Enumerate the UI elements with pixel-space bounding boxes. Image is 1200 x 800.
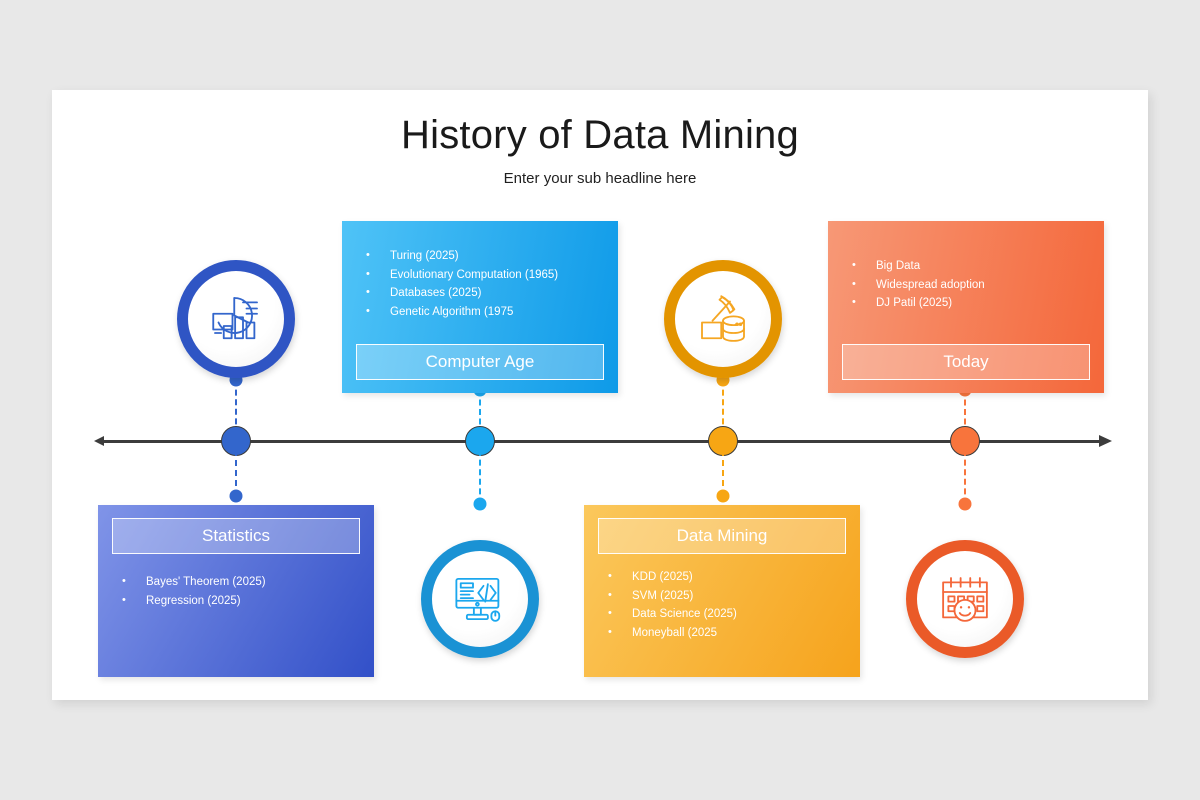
list-item: Bayes' Theorem (2025) [118,573,362,592]
list-item: Genetic Algorithm (1975 [362,303,606,322]
list-item: Widespread adoption [848,276,1092,295]
milestone-label-computer-age: Computer Age [356,344,604,380]
milestone-panel-computer-age[interactable]: Turing (2025) Evolutionary Computation (… [342,221,618,393]
connector-dot-data-mining-down [717,490,730,503]
timeline-axis [92,440,1112,444]
slide-header: History of Data Mining Enter your sub he… [52,90,1148,187]
list-item: Evolutionary Computation (1965) [362,266,606,285]
milestone-icon-circle-statistics[interactable] [177,260,295,378]
connector-today-down [964,450,966,504]
list-item: Turing (2025) [362,247,606,266]
milestone-label-data-mining: Data Mining [598,518,846,554]
list-item: KDD (2025) [604,568,848,587]
list-item: Data Science (2025) [604,605,848,624]
milestone-panel-statistics[interactable]: Statistics Bayes' Theorem (2025) Regress… [98,505,374,677]
list-item: Regression (2025) [118,592,362,611]
milestone-label-today: Today [842,344,1090,380]
milestone-label-statistics: Statistics [112,518,360,554]
milestone-panel-today[interactable]: Big Data Widespread adoption DJ Patil (2… [828,221,1104,393]
milestone-panel-data-mining[interactable]: Data Mining KDD (2025) SVM (2025) Data S… [584,505,860,677]
axis-right-arrow-icon [1099,435,1112,447]
calendar-smiley-icon [937,571,993,627]
milestone-icon-circle-computer-age[interactable] [421,540,539,658]
connector-today-up [964,390,966,434]
connector-dot-computer-age-down [474,498,487,511]
connector-dot-today-down [959,498,972,511]
connector-statistics-up [235,380,237,434]
milestone-items-data-mining: KDD (2025) SVM (2025) Data Science (2025… [604,568,848,642]
milestone-items-today: Big Data Widespread adoption DJ Patil (2… [848,257,1092,313]
connector-computer-age-up [479,390,481,434]
pickaxe-database-icon [695,291,751,347]
list-item: Moneyball (2025 [604,624,848,643]
page-subtitle: Enter your sub headline here [52,158,1148,187]
list-item: Big Data [848,257,1092,276]
page-title: History of Data Mining [52,90,1148,158]
connector-computer-age-down [479,450,481,504]
list-item: SVM (2025) [604,587,848,606]
monitor-code-icon [452,571,508,627]
milestone-items-statistics: Bayes' Theorem (2025) Regression (2025) [118,573,362,610]
connector-data-mining-up [722,380,724,434]
pie-bar-chart-icon [208,291,264,347]
connector-dot-statistics-down [230,490,243,503]
list-item: Databases (2025) [362,284,606,303]
list-item: DJ Patil (2025) [848,294,1092,313]
slide-canvas: History of Data Mining Enter your sub he… [52,90,1148,700]
milestone-icon-circle-data-mining[interactable] [664,260,782,378]
milestone-items-computer-age: Turing (2025) Evolutionary Computation (… [362,247,606,321]
milestone-icon-circle-today[interactable] [906,540,1024,658]
